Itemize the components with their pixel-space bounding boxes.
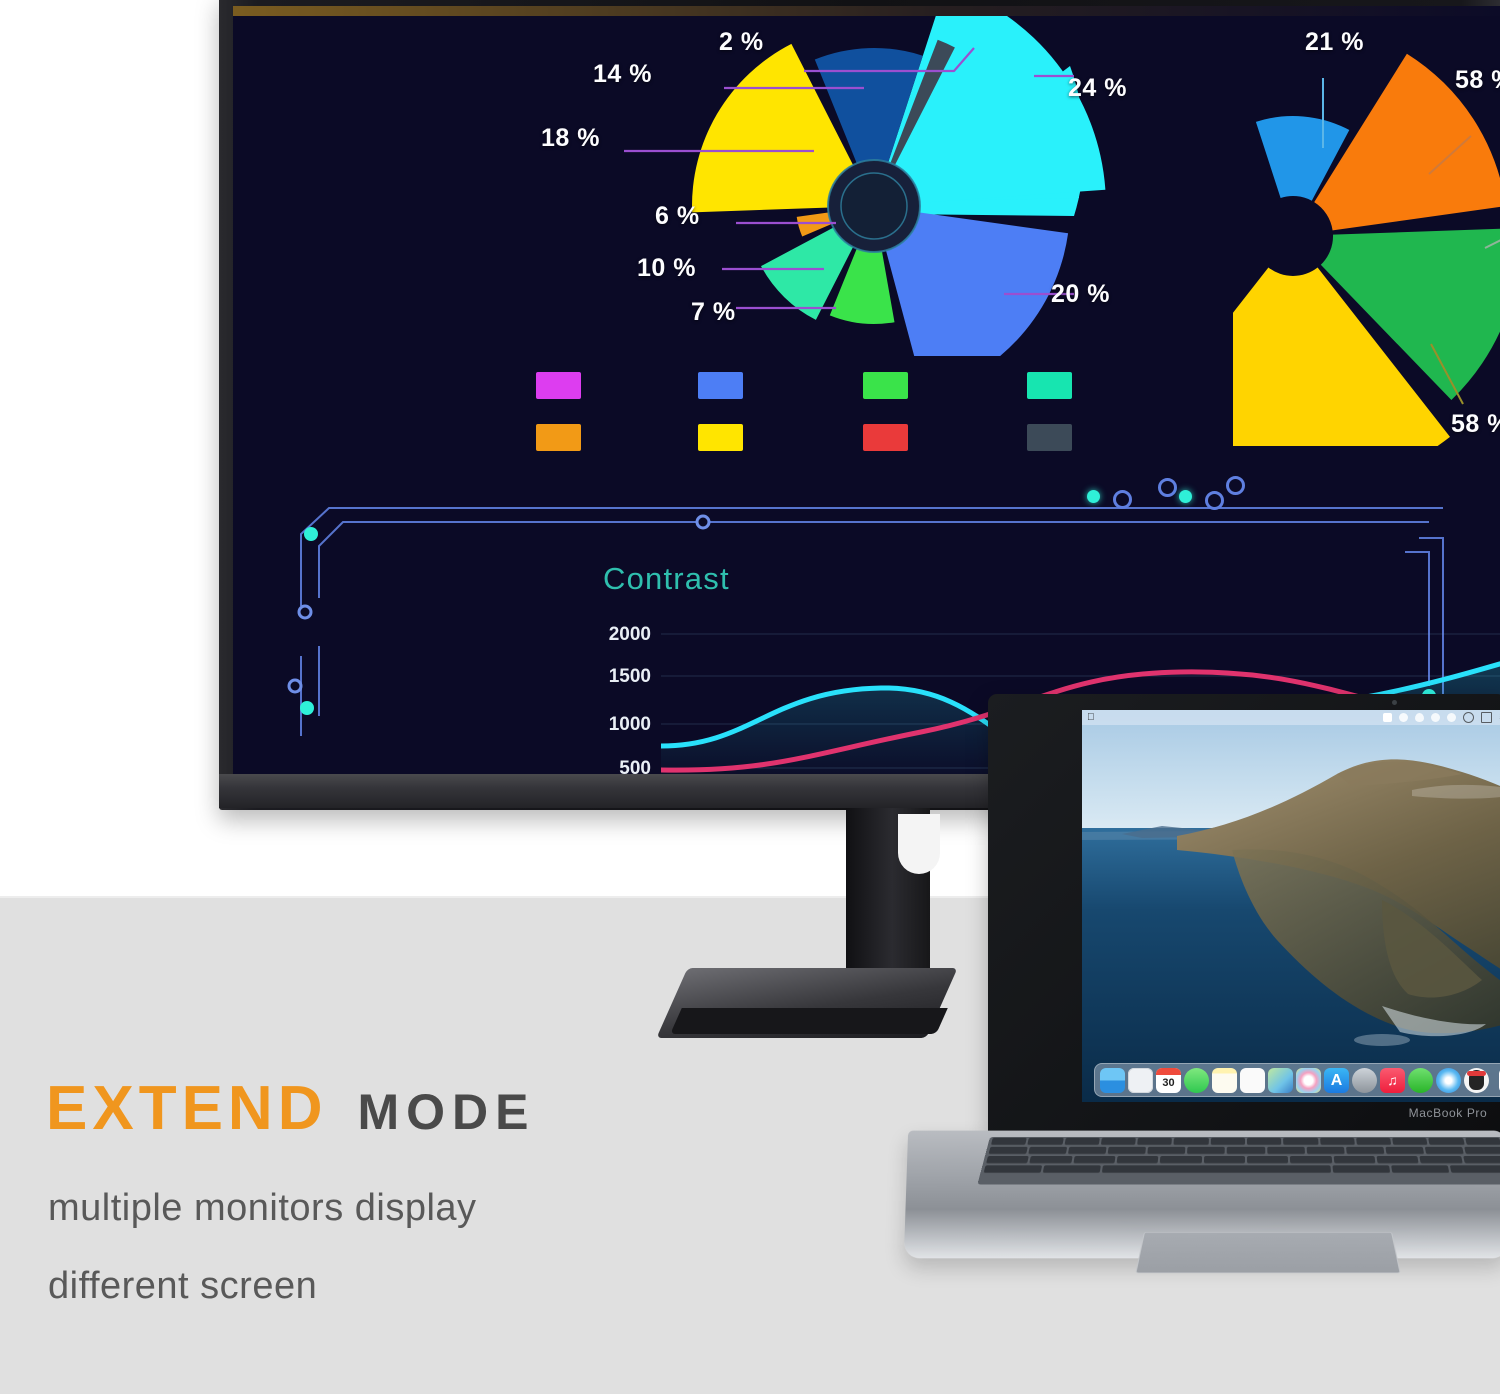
key [1117,1156,1159,1164]
spotlight-icon[interactable] [1463,712,1474,723]
screenshot-icon[interactable] [1399,713,1408,722]
dock-item-safari[interactable] [1436,1068,1461,1093]
key [1137,1138,1172,1145]
rose-left-label-18: 18 % [541,124,600,153]
key [986,1156,1029,1164]
laptop-screen:  ☃ 100% ◕ ⚲ [1082,710,1500,1102]
keyboard-row [983,1155,1500,1164]
rose-left-label-6: 6 % [655,202,700,231]
subtext-line-1: multiple monitors display [48,1187,477,1230]
headline-highlight-word: EXTEND [46,1073,327,1144]
screen-glare [233,6,1500,16]
swatch-magenta [536,372,581,399]
key [1030,1156,1073,1164]
dock-item-podcasts[interactable] [1352,1068,1377,1093]
keyboard-row [980,1164,1500,1174]
key [1290,1156,1332,1164]
key [1203,1156,1244,1164]
laptop-trackpad[interactable] [1135,1232,1400,1273]
macbook-pro-laptop:  ☃ 100% ◕ ⚲ [906,694,1500,1260]
chart-legend [536,372,1096,464]
key [1064,1138,1100,1145]
swatch-blue [698,372,743,399]
key [1187,1147,1225,1154]
dock-item-reminders[interactable] [1240,1068,1265,1093]
key [1267,1147,1305,1154]
display-icon[interactable] [1481,712,1492,723]
dropbox-icon[interactable] [1415,713,1424,722]
key [1465,1138,1500,1145]
headline-plain-word: MODE [357,1083,535,1141]
calendar-day-number: 30 [1156,1075,1181,1092]
key [1464,1147,1500,1154]
key [1320,1138,1355,1145]
colorpicker-icon[interactable] [1447,713,1456,722]
contrast-chart-title: Contrast [603,561,730,597]
swatch-orange [536,424,581,451]
key [1392,1138,1428,1145]
macos-dock[interactable]: 30 A ♫ W [1094,1063,1500,1097]
key [991,1138,1027,1145]
swatch-green [863,372,908,399]
dock-item-maps[interactable] [1268,1068,1293,1093]
rose-right-label-58-a: 58 % [1455,66,1500,95]
external-monitor: 24 % 2 % 14 % 18 % 6 % 10 % 7 % 20 % [219,0,1500,810]
swatch-red [863,424,908,451]
key [1332,1165,1390,1173]
dock-item-music[interactable]: ♫ [1380,1068,1405,1093]
sync-icon[interactable] [1431,713,1440,722]
dock-item-photos[interactable] [1296,1068,1321,1093]
key [1425,1147,1464,1154]
key [1283,1138,1318,1145]
product-photo-scene: 24 % 2 % 14 % 18 % 6 % 10 % 7 % 20 % [0,0,1500,1394]
key [1102,1165,1331,1173]
key [1108,1147,1147,1154]
dock-item-app-store[interactable]: A [1324,1068,1349,1093]
headline: EXTEND MODE [46,1073,535,1144]
keyboard-row [988,1137,1500,1146]
key [1247,1138,1282,1145]
key [1073,1156,1115,1164]
apple-icon[interactable]:  [1087,713,1095,723]
key [988,1147,1027,1154]
dock-item-calendar[interactable]: 30 [1156,1068,1181,1093]
dock-item-messages[interactable] [1184,1068,1209,1093]
rose-right-label-21: 21 % [1305,28,1364,57]
rose-right-label-58-c: 58 % [1451,410,1500,439]
key [1306,1147,1344,1154]
key [1028,1147,1067,1154]
key [984,1165,1043,1173]
swatch-teal [1027,372,1072,399]
swatch-yellow [698,424,743,451]
rose-left-label-24: 24 % [1068,74,1127,103]
subtext-line-2: different screen [48,1265,317,1308]
key [1420,1156,1463,1164]
dock-item-notes[interactable] [1212,1068,1237,1093]
key [1463,1156,1500,1164]
monitor-screen: 24 % 2 % 14 % 18 % 6 % 10 % 7 % 20 % [233,6,1500,780]
swatch-slate [1027,424,1072,451]
key [1247,1156,1288,1164]
macos-menu-bar[interactable]:  ☃ 100% ◕ ⚲ [1082,710,1500,725]
rose-left-label-20: 20 % [1051,280,1110,309]
dock-item-qq[interactable] [1464,1068,1489,1093]
dock-item-wechat[interactable] [1408,1068,1433,1093]
rose-left-label-10: 10 % [637,254,696,283]
key [1068,1147,1107,1154]
laptop-keyboard[interactable] [977,1137,1500,1185]
key [1346,1147,1385,1154]
key [1227,1147,1265,1154]
rose-left-label-7: 7 % [691,298,736,327]
rose-left-label-2: 2 % [719,28,764,57]
menubar-status-area: ☃ 100% ◕ ⚲ [1383,712,1500,723]
webcam-icon [1392,700,1397,705]
keyboard-row [985,1146,1500,1155]
key [1101,1138,1136,1145]
key [1148,1147,1186,1154]
key [1210,1138,1245,1145]
key [1174,1138,1209,1145]
key [1160,1156,1202,1164]
key [1376,1156,1418,1164]
key [1450,1165,1500,1173]
desktop-wallpaper [1082,710,1500,1102]
y-tick-2000: 2000 [591,624,651,646]
key [1391,1165,1449,1173]
dock-item-launchpad[interactable] [1128,1068,1153,1093]
key [1043,1165,1101,1173]
key [1429,1138,1465,1145]
wps-icon[interactable] [1383,713,1392,722]
key [1333,1156,1375,1164]
y-tick-1500: 1500 [591,666,651,688]
rose-left-label-14: 14 % [593,60,652,89]
macbook-brand-label: MacBook Pro [1328,1106,1500,1120]
key [1027,1138,1063,1145]
laptop-lid:  ☃ 100% ◕ ⚲ [988,694,1500,1134]
key [1356,1138,1391,1145]
key [1385,1147,1424,1154]
y-tick-1000: 1000 [591,714,651,736]
dock-item-finder[interactable] [1100,1068,1125,1093]
